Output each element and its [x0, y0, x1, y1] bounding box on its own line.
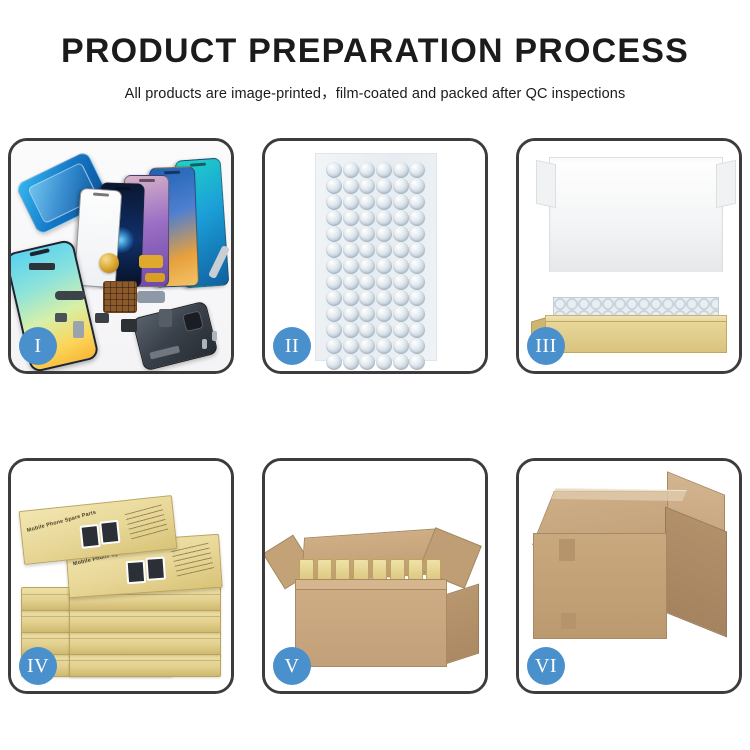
box-front-panel	[545, 321, 727, 353]
bubble-cell	[393, 322, 409, 338]
retail-box-row-6	[69, 631, 221, 655]
bubble-cell	[376, 258, 392, 274]
bubble-cell	[343, 258, 359, 274]
bubble-cell	[393, 178, 409, 194]
step-badge-5: V	[273, 647, 311, 685]
bubble-cell	[393, 290, 409, 306]
box-art-phone-d	[99, 520, 120, 545]
bubble-cell	[409, 226, 425, 242]
box-spec-lines-back	[125, 504, 168, 539]
page-subtitle: All products are image-printed，film-coat…	[0, 82, 750, 103]
step-badge-3: III	[527, 327, 565, 365]
bubble-grid	[326, 162, 426, 352]
phone-screen-1	[74, 188, 123, 289]
bubble-cell	[376, 162, 392, 178]
part-flex-cable-a	[139, 255, 163, 268]
part-flex-cable-b	[145, 273, 165, 282]
carton-tab-lower	[561, 613, 576, 629]
bubble-cell	[376, 338, 392, 354]
part-sim-tray	[73, 321, 84, 338]
part-flex-cable-c	[137, 291, 165, 303]
bubble-cell	[409, 274, 425, 290]
bubble-cell	[359, 354, 375, 370]
bubble-cell	[409, 194, 425, 210]
bubble-cell	[393, 210, 409, 226]
part-battery	[159, 309, 172, 327]
bubble-cell	[343, 338, 359, 354]
bubble-cell	[409, 162, 425, 178]
bubble-cell	[393, 194, 409, 210]
part-earpiece	[29, 263, 55, 270]
bubble-cell	[343, 274, 359, 290]
bubble-cell	[326, 306, 342, 322]
chip-array-icon	[103, 281, 137, 313]
bubble-cell	[376, 322, 392, 338]
carton-front-panel	[295, 589, 447, 667]
bubble-cell	[409, 338, 425, 354]
step-badge-2: II	[273, 327, 311, 365]
retail-box-row-5	[69, 653, 221, 677]
bubble-cell	[359, 178, 375, 194]
bubble-cell	[393, 274, 409, 290]
bubble-cell	[409, 210, 425, 226]
part-screw-b	[202, 339, 207, 349]
bubble-cell	[326, 290, 342, 306]
bubble-cell	[326, 210, 342, 226]
bubble-cell	[326, 226, 342, 242]
bubble-cell	[409, 242, 425, 258]
step-panel-6: VI	[516, 458, 742, 694]
step-panel-3: III	[516, 138, 742, 374]
bubble-cell	[376, 226, 392, 242]
bubble-cell	[359, 162, 375, 178]
bubble-cell	[343, 226, 359, 242]
part-button-a	[95, 313, 109, 323]
bubble-cell	[409, 306, 425, 322]
sealed-carton-front	[533, 533, 667, 639]
bubble-cell	[343, 322, 359, 338]
bubble-cell	[359, 322, 375, 338]
bubble-cell	[326, 162, 342, 178]
bubble-cell	[359, 306, 375, 322]
bubble-cell	[376, 354, 392, 370]
bubble-cell	[376, 306, 392, 322]
packing-tape-seam	[551, 488, 687, 501]
bubble-cell	[393, 338, 409, 354]
part-button-b	[55, 313, 67, 322]
bubble-cell	[343, 290, 359, 306]
bubble-cell	[326, 258, 342, 274]
bubble-cell	[359, 194, 375, 210]
step-badge-1: I	[19, 327, 57, 365]
carton-side-panel	[445, 583, 479, 664]
bubble-cell	[409, 290, 425, 306]
infographic-page: PRODUCT PREPARATION PROCESS All products…	[0, 0, 750, 750]
carton-tab-upper	[559, 539, 575, 561]
bubble-cell	[409, 258, 425, 274]
bubble-cell	[359, 338, 375, 354]
bubble-cell	[376, 194, 392, 210]
bubble-cell	[409, 354, 425, 370]
bubble-cell	[393, 242, 409, 258]
bubble-cell	[326, 354, 342, 370]
bubble-wrap-pouch	[315, 153, 437, 361]
step-badge-4: IV	[19, 647, 57, 685]
bubble-cell	[326, 242, 342, 258]
step-panel-4: Mobile Phone Spare Parts Mobile Phone Sp…	[8, 458, 234, 694]
bubble-cell	[326, 338, 342, 354]
bubble-cell	[376, 290, 392, 306]
header: PRODUCT PREPARATION PROCESS All products…	[0, 0, 750, 103]
bubble-cell	[393, 306, 409, 322]
box-lid-flap	[549, 157, 723, 272]
step-badge-6: VI	[527, 647, 565, 685]
bubble-cell	[376, 210, 392, 226]
bubble-cell	[376, 242, 392, 258]
bubble-cell	[326, 322, 342, 338]
bubble-cell	[343, 162, 359, 178]
part-screw-a	[212, 331, 217, 341]
box-art-phone-a	[126, 560, 147, 584]
process-steps-grid: I II III	[8, 138, 742, 694]
bubble-cell	[326, 194, 342, 210]
bubble-cell	[376, 178, 392, 194]
bubble-cell	[359, 226, 375, 242]
retail-box-stack: Mobile Phone Spare Parts Mobile Phone Sp…	[21, 501, 226, 677]
bubble-cell	[393, 354, 409, 370]
bubble-cell	[343, 306, 359, 322]
bubble-cell	[343, 210, 359, 226]
step-panel-2: II	[262, 138, 488, 374]
step-panel-1: I	[8, 138, 234, 374]
bubble-cell	[359, 210, 375, 226]
phone-back-housing	[132, 301, 219, 371]
bubble-cell	[326, 178, 342, 194]
page-title: PRODUCT PREPARATION PROCESS	[0, 34, 750, 70]
bubble-cell	[343, 194, 359, 210]
bubble-cell	[409, 322, 425, 338]
bubble-cell	[359, 242, 375, 258]
bubble-cell	[359, 274, 375, 290]
bubble-cell	[376, 274, 392, 290]
bubble-cell	[359, 258, 375, 274]
step-panel-5: V	[262, 458, 488, 694]
part-ribbon-cable	[55, 291, 85, 300]
bubble-cell	[326, 274, 342, 290]
bubble-cell	[343, 354, 359, 370]
part-speaker	[121, 319, 137, 332]
bubble-cell	[343, 178, 359, 194]
box-spec-lines-front	[171, 543, 214, 577]
bubble-cell	[393, 162, 409, 178]
retail-box-row-7	[69, 609, 221, 633]
bubble-cell	[343, 242, 359, 258]
bubble-cell	[359, 290, 375, 306]
bubble-cell	[409, 178, 425, 194]
bubble-cell	[393, 226, 409, 242]
charging-coil-icon	[99, 253, 119, 273]
bubble-cell	[393, 258, 409, 274]
box-art-phone-c	[79, 524, 100, 549]
box-art-phone-b	[145, 557, 166, 581]
